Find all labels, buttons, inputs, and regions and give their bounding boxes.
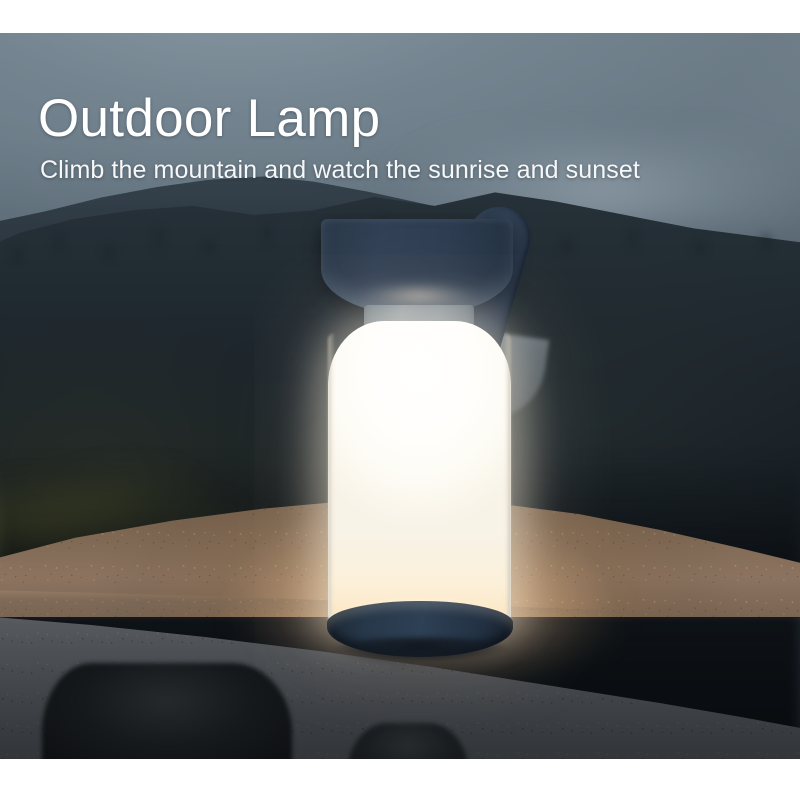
letterbox-top — [0, 0, 800, 33]
headline-copy: Outdoor Lamp Climb the mountain and watc… — [38, 91, 640, 185]
diffuser-rim-left — [328, 333, 335, 621]
diffuser-rim-right — [504, 333, 511, 621]
page-title: Outdoor Lamp — [38, 91, 640, 147]
product-banner: Outdoor Lamp Climb the mountain and watc… — [0, 0, 800, 800]
letterbox-bottom — [0, 759, 800, 800]
product-photo: Outdoor Lamp Climb the mountain and watc… — [0, 33, 800, 759]
base-contact-ellipse — [331, 637, 509, 663]
page-subtitle: Climb the mountain and watch the sunrise… — [40, 156, 640, 185]
